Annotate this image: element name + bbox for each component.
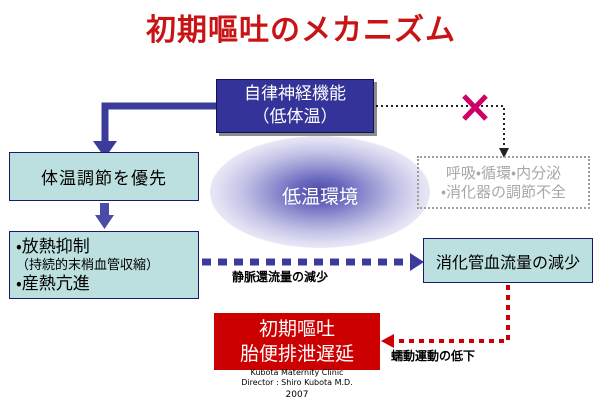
footer-year: 2007 — [214, 390, 380, 400]
footer-clinic: Kubota Maternity Clinic — [214, 368, 380, 378]
diagram-canvas: 初期嘔吐のメカニズム 低温環境 — [0, 0, 602, 409]
box-heat-regulation[interactable]: ・放熱抑制 （持続的末梢血管収縮） ・産熱亢進 — [9, 231, 199, 299]
page-title: 初期嘔吐のメカニズム — [0, 12, 602, 50]
arrow-autonomic-to-thermoregulation — [93, 106, 216, 158]
heat-line-3: ・産熱亢進 — [16, 274, 159, 294]
arrow-autonomic-to-dysregulation — [376, 106, 509, 158]
heat-line-2: （持続的末梢血管収縮） — [16, 257, 159, 274]
box-dysregulation[interactable]: 呼吸・循環・内分泌 ・消化器の調節不全 — [417, 156, 590, 209]
box-thermoregulation-priority[interactable]: 体温調節を優先 — [9, 152, 199, 201]
autonomic-line-2: （低体温） — [244, 106, 346, 129]
box-gi-blood-flow[interactable]: 消化管血流量の減少 — [423, 238, 593, 283]
thermoregulation-label: 体温調節を優先 — [41, 164, 167, 189]
arrow-thermoregulation-to-heat — [95, 203, 114, 229]
gi-flow-label: 消化管血流量の減少 — [436, 249, 580, 273]
footer-credits: Kubota Maternity Clinic Director : Shiro… — [214, 368, 380, 388]
footer-director: Director : Shiro Kubota M.D. — [214, 378, 380, 388]
vomiting-line-1: 初期嘔吐 — [240, 317, 354, 342]
label-venous-return: 静脈還流量の減少 — [232, 268, 328, 285]
box-autonomic-function[interactable]: 自律神経機能 （低体温） — [216, 79, 374, 133]
heat-line-1: ・放熱抑制 — [16, 237, 159, 257]
autonomic-line-1: 自律神経機能 — [244, 83, 346, 106]
vomiting-line-2: 胎便排泄遅延 — [240, 342, 354, 367]
blocked-x-icon — [464, 96, 486, 119]
label-peristalsis: 蠕動運動の低下 — [391, 347, 475, 364]
dysregulation-line-1: 呼吸・循環・内分泌 — [441, 164, 566, 183]
cold-environment-label: 低温環境 — [210, 186, 430, 208]
arrow-peristalsis — [381, 285, 508, 348]
dysregulation-line-2: ・消化器の調節不全 — [441, 183, 566, 202]
box-early-vomiting[interactable]: 初期嘔吐 胎便排泄遅延 — [214, 313, 380, 370]
